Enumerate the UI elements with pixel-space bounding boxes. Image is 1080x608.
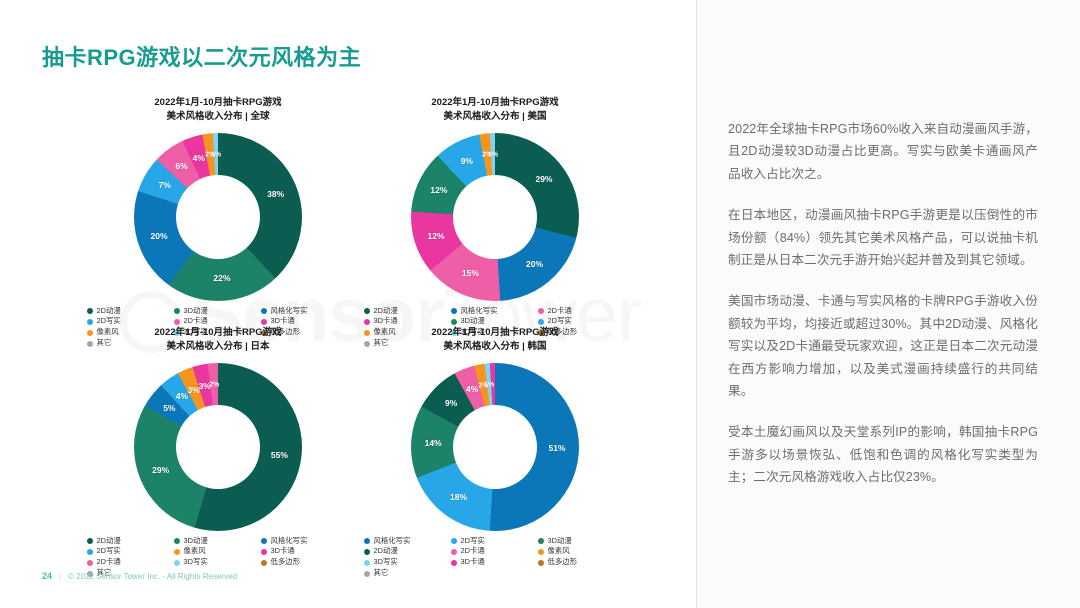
legend-color-dot-icon bbox=[87, 549, 93, 555]
chart-global: 2022年1月-10月抽卡RPG游戏 美术风格收入分布 | 全球 38%22%2… bbox=[68, 96, 368, 348]
legend-label: 3D动漫 bbox=[461, 317, 485, 326]
legend-item[interactable]: 3D动漫 bbox=[538, 537, 625, 546]
legend-label: 2D写实 bbox=[461, 537, 485, 546]
legend-label: 2D动漫 bbox=[97, 537, 121, 546]
legend-label: 3D写实 bbox=[184, 558, 208, 567]
commentary-paragraph: 美国市场动漫、卡通与写实风格的卡牌RPG手游收入份额较为平均，均接近或超过30%… bbox=[728, 290, 1038, 402]
slice-label: 18% bbox=[450, 492, 467, 502]
legend-label: 3D动漫 bbox=[548, 537, 572, 546]
legend-item[interactable]: 3D动漫 bbox=[451, 317, 538, 326]
legend-color-dot-icon bbox=[451, 308, 457, 314]
legend-label: 3D卡通 bbox=[374, 317, 398, 326]
slice-label: 14% bbox=[425, 438, 442, 448]
legend-item[interactable]: 2D卡通 bbox=[174, 317, 261, 326]
legend-color-dot-icon bbox=[364, 549, 370, 555]
legend-item[interactable]: 2D写实 bbox=[538, 317, 625, 326]
legend-item[interactable]: 2D卡通 bbox=[87, 558, 174, 567]
donut-korea: 51%18%14%9%4%2%1% bbox=[411, 363, 579, 531]
slice-label: 20% bbox=[151, 231, 168, 241]
slice-label: 22% bbox=[213, 273, 230, 283]
copyright-text: © 2022 Sensor Tower Inc. - All Rights Re… bbox=[68, 572, 237, 581]
slice-label: 4% bbox=[176, 391, 188, 401]
legend-item[interactable]: 其它 bbox=[364, 569, 451, 578]
legend-color-dot-icon bbox=[364, 538, 370, 544]
legend-item[interactable]: 低多边形 bbox=[538, 558, 625, 567]
chart-title-korea: 2022年1月-10月抽卡RPG游戏 美术风格收入分布 | 韩国 bbox=[380, 326, 610, 354]
chart-korea: 2022年1月-10月抽卡RPG游戏 美术风格收入分布 | 韩国 51%18%1… bbox=[345, 326, 645, 578]
legend-label: 风格化写实 bbox=[374, 537, 411, 546]
legend-color-dot-icon bbox=[87, 319, 93, 325]
legend-color-dot-icon bbox=[261, 308, 267, 314]
legend-color-dot-icon bbox=[364, 319, 370, 325]
legend-item[interactable]: 像素风 bbox=[174, 547, 261, 556]
legend-item[interactable]: 2D动漫 bbox=[87, 307, 174, 316]
legend-item[interactable]: 2D动漫 bbox=[364, 307, 451, 316]
legend-label: 风格化写实 bbox=[461, 307, 498, 316]
chart-us: 2022年1月-10月抽卡RPG游戏 美术风格收入分布 | 美国 29%20%1… bbox=[345, 96, 645, 348]
legend-label: 2D卡通 bbox=[461, 547, 485, 556]
page-title: 抽卡RPG游戏以二次元风格为主 bbox=[42, 40, 361, 72]
legend-item[interactable]: 风格化写实 bbox=[261, 537, 348, 546]
legend-item[interactable]: 3D卡通 bbox=[261, 317, 348, 326]
legend-item[interactable]: 3D写实 bbox=[364, 558, 451, 567]
legend-label: 2D写实 bbox=[548, 317, 572, 326]
legend-color-dot-icon bbox=[364, 308, 370, 314]
donut-global: 38%22%20%7%6%4%2%1% bbox=[134, 133, 302, 301]
legend-label: 风格化写实 bbox=[271, 307, 308, 316]
slice-label: 15% bbox=[462, 268, 479, 278]
legend-color-dot-icon bbox=[538, 549, 544, 555]
legend-item[interactable]: 风格化写实 bbox=[364, 537, 451, 546]
legend-label: 2D卡通 bbox=[548, 307, 572, 316]
slice-label: 4% bbox=[193, 153, 205, 163]
legend-label: 其它 bbox=[374, 569, 389, 578]
legend-label: 风格化写实 bbox=[271, 537, 308, 546]
legend-item[interactable]: 3D动漫 bbox=[174, 537, 261, 546]
legend-label: 低多边形 bbox=[271, 558, 301, 567]
legend-color-dot-icon bbox=[451, 560, 457, 566]
slice-label: 2% bbox=[209, 381, 219, 388]
legend-item[interactable]: 3D动漫 bbox=[174, 307, 261, 316]
slice-label: 1% bbox=[488, 151, 498, 158]
legend-label: 3D动漫 bbox=[184, 537, 208, 546]
legend-korea: 风格化写实2D写实3D动漫2D动漫2D卡通像素风3D写实3D卡通低多边形其它 bbox=[364, 537, 626, 579]
chart-title-us: 2022年1月-10月抽卡RPG游戏 美术风格收入分布 | 美国 bbox=[380, 96, 610, 124]
legend-color-dot-icon bbox=[364, 571, 370, 577]
legend-color-dot-icon bbox=[451, 549, 457, 555]
legend-item[interactable]: 2D写实 bbox=[87, 317, 174, 326]
legend-color-dot-icon bbox=[261, 538, 267, 544]
slice-label: 29% bbox=[152, 465, 169, 475]
legend-color-dot-icon bbox=[538, 308, 544, 314]
legend-color-dot-icon bbox=[451, 538, 457, 544]
legend-color-dot-icon bbox=[261, 560, 267, 566]
chart-title-line1: 2022年1月-10月抽卡RPG游戏 bbox=[380, 326, 610, 340]
chart-japan: 2022年1月-10月抽卡RPG游戏 美术风格收入分布 | 日本 55%29%5… bbox=[68, 326, 368, 578]
legend-item[interactable]: 3D写实 bbox=[174, 558, 261, 567]
legend-item[interactable]: 低多边形 bbox=[261, 558, 348, 567]
chart-title-line2: 美术风格收入分布 | 日本 bbox=[103, 340, 333, 354]
commentary-paragraphs: 2022年全球抽卡RPG市场60%收入来自动漫画风手游，且2D动漫较3D动漫占比… bbox=[728, 118, 1038, 489]
legend-item[interactable]: 2D写实 bbox=[451, 537, 538, 546]
slice-label: 51% bbox=[548, 443, 565, 453]
chart-title-line2: 美术风格收入分布 | 韩国 bbox=[380, 340, 610, 354]
slice-label: 29% bbox=[535, 174, 552, 184]
legend-label: 3D卡通 bbox=[271, 317, 295, 326]
legend-item[interactable]: 2D卡通 bbox=[538, 307, 625, 316]
legend-color-dot-icon bbox=[261, 549, 267, 555]
legend-label: 2D写实 bbox=[97, 547, 121, 556]
legend-label: 3D卡通 bbox=[271, 547, 295, 556]
slice-label: 4% bbox=[466, 384, 478, 394]
slice-label: 55% bbox=[271, 450, 288, 460]
legend-item[interactable]: 风格化写实 bbox=[261, 307, 348, 316]
slice-label: 6% bbox=[175, 161, 187, 171]
chart-title-line1: 2022年1月-10月抽卡RPG游戏 bbox=[103, 326, 333, 340]
charts-pane: 抽卡RPG游戏以二次元风格为主 SensorTower 2022年1月-10月抽… bbox=[0, 0, 695, 608]
legend-label: 像素风 bbox=[184, 547, 206, 556]
chart-title-global: 2022年1月-10月抽卡RPG游戏 美术风格收入分布 | 全球 bbox=[103, 96, 333, 124]
legend-color-dot-icon bbox=[87, 538, 93, 544]
legend-color-dot-icon bbox=[174, 549, 180, 555]
legend-color-dot-icon bbox=[538, 319, 544, 325]
legend-color-dot-icon bbox=[538, 538, 544, 544]
legend-color-dot-icon bbox=[174, 308, 180, 314]
legend-label: 3D卡通 bbox=[461, 558, 485, 567]
legend-item[interactable]: 2D卡通 bbox=[451, 547, 538, 556]
commentary-pane: 2022年全球抽卡RPG市场60%收入来自动漫画风手游，且2D动漫较3D动漫占比… bbox=[696, 0, 1080, 608]
chart-title-line2: 美术风格收入分布 | 美国 bbox=[380, 110, 610, 124]
legend-label: 低多边形 bbox=[548, 558, 578, 567]
donut-us: 29%20%15%12%12%9%2%1% bbox=[411, 133, 579, 301]
chart-title-line2: 美术风格收入分布 | 全球 bbox=[103, 110, 333, 124]
slide-page: 抽卡RPG游戏以二次元风格为主 SensorTower 2022年1月-10月抽… bbox=[0, 0, 1080, 608]
legend-item[interactable]: 3D卡通 bbox=[364, 317, 451, 326]
slice-label: 1% bbox=[211, 151, 221, 158]
legend-item[interactable]: 2D动漫 bbox=[364, 547, 451, 556]
legend-label: 像素风 bbox=[548, 547, 570, 556]
footer: 24 | © 2022 Sensor Tower Inc. - All Righ… bbox=[42, 571, 237, 581]
slice-label: 12% bbox=[428, 231, 445, 241]
legend-color-dot-icon bbox=[174, 560, 180, 566]
legend-label: 2D写实 bbox=[97, 317, 121, 326]
legend-color-dot-icon bbox=[174, 319, 180, 325]
footer-separator: | bbox=[59, 572, 61, 581]
legend-item[interactable]: 2D动漫 bbox=[87, 537, 174, 546]
legend-item[interactable]: 2D写实 bbox=[87, 547, 174, 556]
slice-label: 7% bbox=[158, 180, 170, 190]
chart-title-line1: 2022年1月-10月抽卡RPG游戏 bbox=[103, 96, 333, 110]
legend-color-dot-icon bbox=[261, 319, 267, 325]
chart-title-line1: 2022年1月-10月抽卡RPG游戏 bbox=[380, 96, 610, 110]
commentary-paragraph: 在日本地区，动漫画风抽卡RPG手游更是以压倒性的市场份额（84%）领先其它美术风… bbox=[728, 204, 1038, 271]
legend-label: 2D卡通 bbox=[97, 558, 121, 567]
slice-label: 1% bbox=[484, 381, 494, 388]
page-number: 24 bbox=[42, 571, 52, 581]
donut-japan: 55%29%5%4%3%3%2% bbox=[134, 363, 302, 531]
legend-label: 2D动漫 bbox=[374, 547, 398, 556]
slice-label: 9% bbox=[445, 398, 457, 408]
legend-color-dot-icon bbox=[451, 319, 457, 325]
legend-item[interactable]: 3D卡通 bbox=[451, 558, 538, 567]
legend-color-dot-icon bbox=[87, 308, 93, 314]
commentary-paragraph: 2022年全球抽卡RPG市场60%收入来自动漫画风手游，且2D动漫较3D动漫占比… bbox=[728, 118, 1038, 185]
slice-label: 20% bbox=[526, 259, 543, 269]
legend-label: 3D动漫 bbox=[184, 307, 208, 316]
legend-label: 2D动漫 bbox=[97, 307, 121, 316]
legend-color-dot-icon bbox=[538, 560, 544, 566]
legend-color-dot-icon bbox=[364, 560, 370, 566]
legend-color-dot-icon bbox=[87, 560, 93, 566]
slice-label: 9% bbox=[461, 156, 473, 166]
slice-label: 5% bbox=[163, 403, 175, 413]
legend-item[interactable]: 风格化写实 bbox=[451, 307, 538, 316]
legend-color-dot-icon bbox=[174, 538, 180, 544]
commentary-paragraph: 受本土魔幻画风以及天堂系列IP的影响，韩国抽卡RPG手游多以场景恢弘、低饱和色调… bbox=[728, 421, 1038, 488]
slice-label: 12% bbox=[430, 185, 447, 195]
legend-item[interactable]: 像素风 bbox=[538, 547, 625, 556]
legend-label: 2D卡通 bbox=[184, 317, 208, 326]
legend-item[interactable]: 3D卡通 bbox=[261, 547, 348, 556]
slice-label: 38% bbox=[267, 189, 284, 199]
legend-label: 2D动漫 bbox=[374, 307, 398, 316]
chart-title-japan: 2022年1月-10月抽卡RPG游戏 美术风格收入分布 | 日本 bbox=[103, 326, 333, 354]
legend-label: 3D写实 bbox=[374, 558, 398, 567]
